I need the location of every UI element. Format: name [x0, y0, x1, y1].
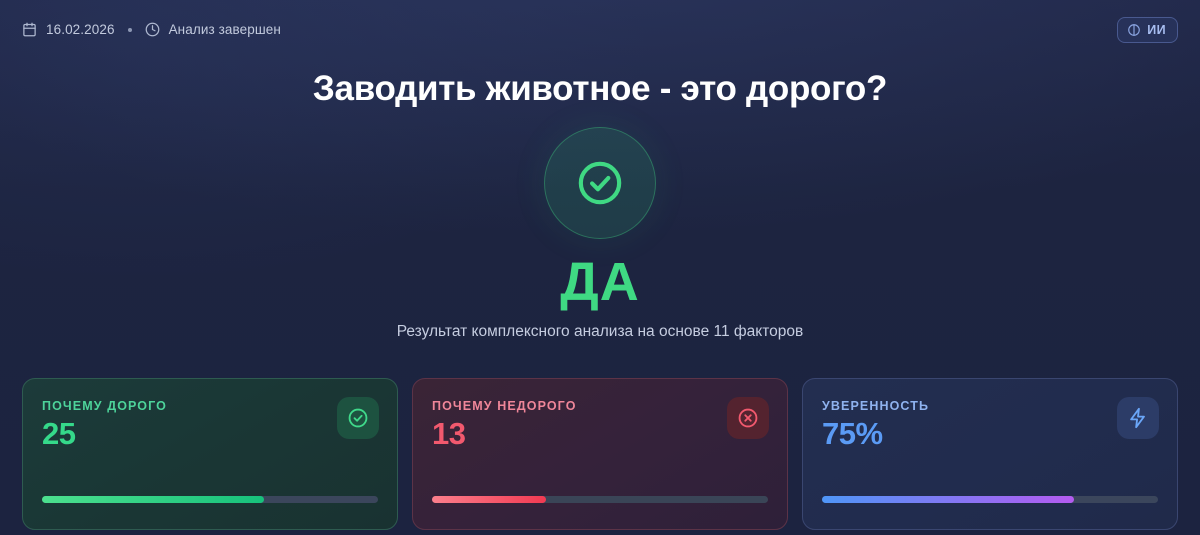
contrast-circle-icon	[1127, 23, 1141, 37]
x-circle-icon	[727, 397, 769, 439]
analysis-status: Анализ завершен	[169, 22, 281, 37]
check-circle-icon	[575, 158, 625, 208]
card-value: 25	[42, 418, 378, 451]
metric-card-why-cheap[interactable]: ПОЧЕМУ НЕДОРОГО 13	[412, 378, 788, 530]
card-label: УВЕРЕННОСТЬ	[822, 399, 1158, 413]
metric-card-confidence[interactable]: УВЕРЕННОСТЬ 75%	[802, 378, 1178, 530]
clock-icon	[145, 22, 160, 37]
analysis-date: 16.02.2026	[46, 22, 115, 37]
metric-card-why-expensive[interactable]: ПОЧЕМУ ДОРОГО 25	[22, 378, 398, 530]
check-circle-icon	[337, 397, 379, 439]
verdict-badge-wrap	[0, 127, 1200, 239]
page-header: 16.02.2026 Анализ завершен ИИ	[0, 0, 1200, 59]
page-title: Заводить животное - это дорого?	[0, 70, 1200, 109]
verdict-circle	[544, 127, 656, 239]
hero-section: Заводить животное - это дорого? ДА Резул…	[0, 59, 1200, 341]
progress-fill	[822, 496, 1074, 503]
calendar-icon	[22, 22, 37, 37]
result-page: 16.02.2026 Анализ завершен ИИ Заводить ж…	[0, 0, 1200, 535]
verdict-label: ДА	[0, 255, 1200, 309]
card-value: 75%	[822, 418, 1158, 451]
ai-badge[interactable]: ИИ	[1117, 17, 1178, 43]
lightning-bolt-icon	[1117, 397, 1159, 439]
progress-fill	[42, 496, 264, 503]
progress-track	[822, 496, 1158, 503]
card-value: 13	[432, 418, 768, 451]
header-meta: 16.02.2026 Анализ завершен	[22, 22, 281, 37]
ai-badge-label: ИИ	[1147, 23, 1166, 37]
card-label: ПОЧЕМУ ДОРОГО	[42, 399, 378, 413]
progress-track	[42, 496, 378, 503]
meta-separator-dot	[128, 28, 132, 32]
verdict-subtitle: Результат комплексного анализа на основе…	[0, 323, 1200, 341]
card-label: ПОЧЕМУ НЕДОРОГО	[432, 399, 768, 413]
progress-fill	[432, 496, 546, 503]
progress-track	[432, 496, 768, 503]
metric-cards: ПОЧЕМУ ДОРОГО 25 ПОЧЕМУ НЕДОРОГО 13	[22, 378, 1178, 530]
